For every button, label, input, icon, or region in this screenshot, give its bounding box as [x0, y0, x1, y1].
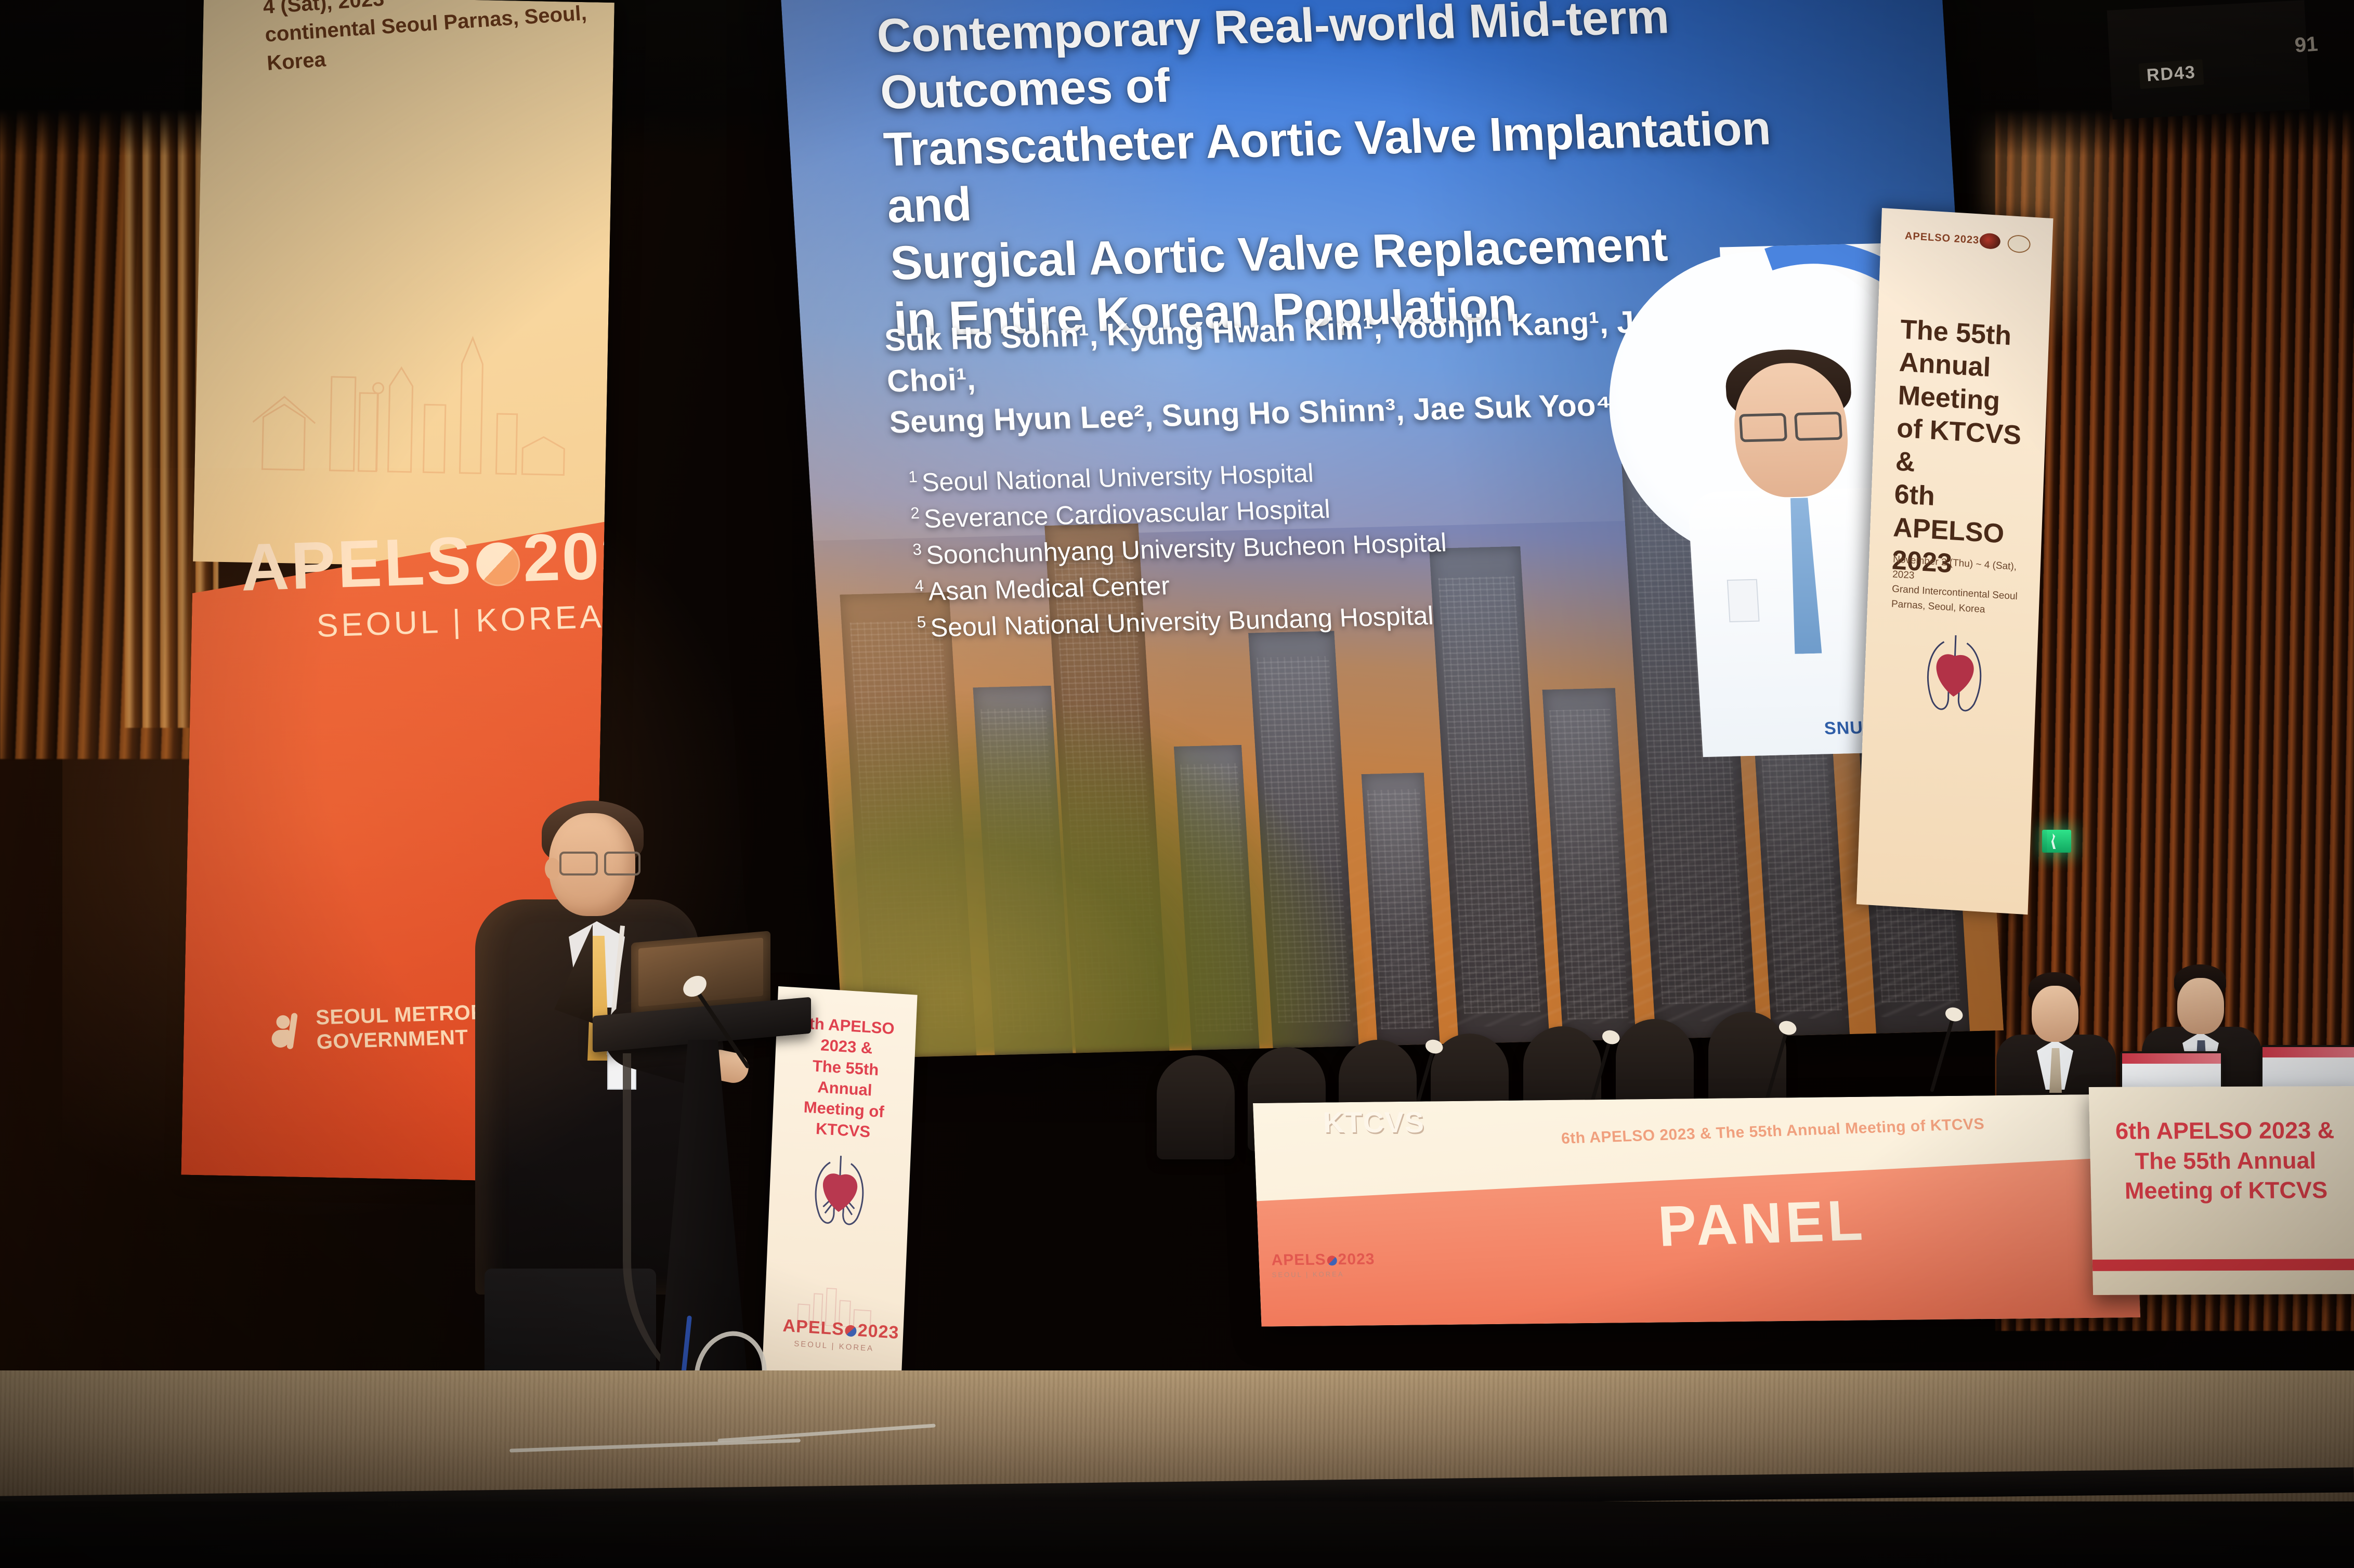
right-table-red-band — [2093, 1259, 2354, 1271]
podium-sign-heart-lungs-icon — [801, 1144, 878, 1237]
rollup-mini-logo: APELSO 2023 — [1905, 230, 1980, 247]
affiliation-name: Asan Medical Center — [927, 571, 1171, 606]
right-table-line-1: 6th APELSO 2023 & — [2089, 1115, 2354, 1146]
truss-number: 91 — [2294, 33, 2319, 58]
rollup-sponsor-marks — [1979, 233, 2031, 254]
projection-screen: …sity Hospital/// Contemporary Real-worl… — [780, 0, 2004, 1059]
panel-skirt-corner-logo: APELS2023 SEOUL | KOREA — [1271, 1250, 1376, 1278]
affiliation-index: 4 — [914, 577, 924, 595]
rollup-title: The 55th Annual Meeting of KTCVS & 6th A… — [1891, 313, 2041, 586]
video-subject-glasses-icon — [1739, 412, 1842, 438]
speaker-glasses-icon — [559, 852, 640, 872]
panel-chair — [1157, 1055, 1235, 1159]
chairperson-head — [2032, 986, 2078, 1042]
conference-photo-scene: RD43 91 …sity Hospital/// Contemporary R… — [0, 0, 2354, 1568]
banner-logo-text-after: 2023 — [521, 516, 614, 596]
panel-corner-logo-after: 2023 — [1338, 1250, 1375, 1268]
right-table-skirt: 6th APELSO 2023 & The 55th Annual Meetin… — [2089, 1086, 2354, 1295]
right-table-text: 6th APELSO 2023 & The 55th Annual Meetin… — [2089, 1115, 2354, 1206]
panel-corner-logo-before: APELS — [1271, 1251, 1326, 1269]
rollup-heart-lungs-icon — [1911, 621, 1998, 725]
smg-mark-icon — [271, 1011, 306, 1052]
right-rollup-banner: APELSO 2023 The 55th Annual Meeting of K… — [1856, 208, 2054, 914]
podium-logo-after: 2023 — [857, 1321, 899, 1343]
panel-corner-logo-sub: SEOUL | KOREA — [1272, 1270, 1375, 1278]
affiliation-name: Seoul National University Hospital — [921, 459, 1314, 497]
rollup-mark-white-icon — [2007, 234, 2031, 254]
panel-corner-logo-orb-icon — [1327, 1256, 1337, 1265]
banner-apelso-logo: APELS2023 — [240, 518, 585, 606]
banner-logo-orb-icon — [476, 542, 521, 587]
rollup-title-line-2: Annual Meeting — [1898, 346, 2040, 421]
ktcvs-letter-sign: KTCVS — [1323, 1105, 1425, 1139]
affiliation-name: Severance Cardiovascular Hospital — [923, 494, 1331, 533]
affiliation-index: 1 — [908, 468, 918, 486]
affiliation-index: 5 — [917, 613, 926, 631]
rollup-title-line-4: 6th APELSO — [1892, 478, 2035, 553]
emergency-exit-sign-icon — [2042, 830, 2071, 853]
rollup-mark-red-icon — [1979, 233, 2000, 250]
podium-logo-orb-icon — [845, 1325, 857, 1337]
panel-label: PANEL — [1656, 1187, 1868, 1259]
affiliation-index: 3 — [912, 540, 922, 558]
rollup-title-line-3: of KTCVS & — [1895, 412, 2037, 487]
video-subject-id-badge — [1727, 579, 1760, 622]
truss-label: RD43 — [2139, 59, 2204, 89]
speaker-ear — [545, 858, 560, 880]
right-table-line-3: Meeting of KTCVS — [2090, 1175, 2354, 1206]
rollup-footer: November 2 (Thu) ~ 4 (Sat), 2023 Grand I… — [1891, 552, 2023, 619]
banner-logo-text-before: APELS — [240, 523, 474, 605]
chairperson-head — [2177, 978, 2224, 1034]
stage-front-apron — [0, 1501, 2354, 1568]
affiliation-index: 2 — [910, 504, 920, 522]
right-table-line-2: The 55th Annual — [2090, 1145, 2354, 1176]
lighting-truss — [2107, 0, 2310, 120]
